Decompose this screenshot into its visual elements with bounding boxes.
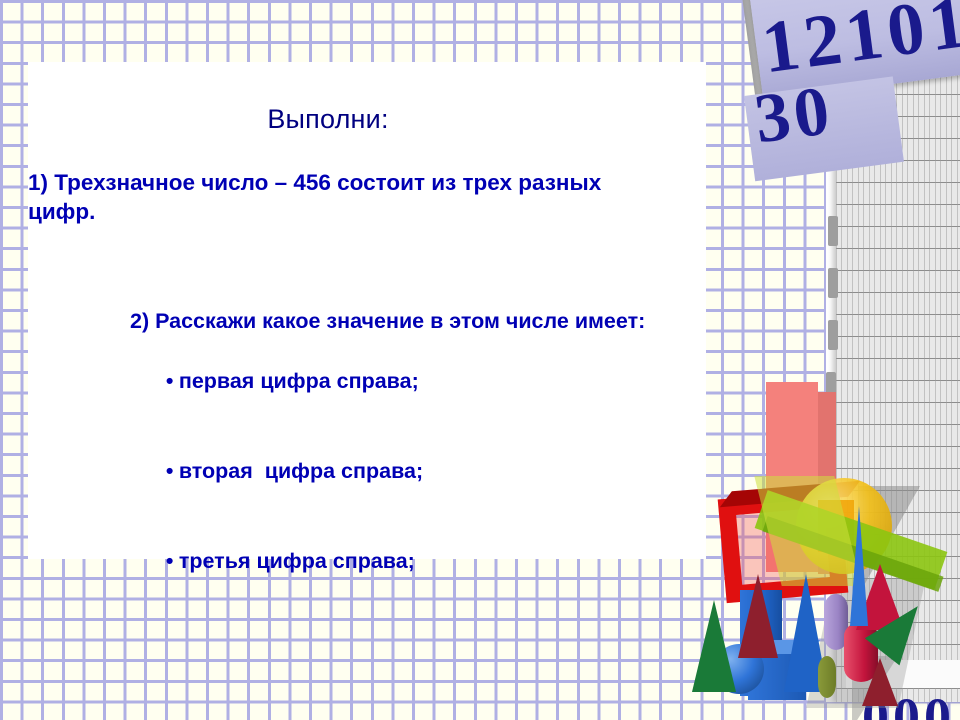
task-2-bullet-2-label: вторая цифра справа; — [179, 459, 423, 483]
task-2-lead: 2) Расскажи какое значение в этом числе … — [130, 306, 650, 336]
solid-cone-darkred — [738, 574, 778, 658]
solid-cylinder-olive — [818, 656, 836, 698]
task-item-1: 1) Трехзначное число – 456 состоит из тр… — [28, 168, 628, 226]
task-2-bullet-1: •первая цифра справа; — [130, 336, 650, 426]
solid-cone-green — [692, 600, 736, 692]
paper-notch — [828, 216, 838, 246]
bullet-icon: • — [166, 366, 179, 396]
paper-notch — [828, 268, 838, 298]
paper-notch — [828, 320, 838, 350]
task-2-bullet-1-label: первая цифра справа; — [179, 369, 419, 393]
task-2-bullet-3-label: третья цифра справа; — [179, 549, 415, 573]
task-item-2: 2) Расскажи какое значение в этом числе … — [130, 306, 650, 606]
geometric-solids-cluster — [700, 378, 960, 708]
task-2-bullet-2: •вторая цифра справа; — [130, 426, 650, 516]
bullet-icon: • — [166, 456, 179, 486]
solid-spike-blue — [850, 506, 868, 626]
ruler-digits-top: 1210101 — [757, 0, 960, 91]
bullet-icon: • — [166, 546, 179, 576]
slide-canvas: 1210101 30 000 — [0, 0, 960, 720]
page-title: Выполни: — [28, 104, 628, 135]
solid-pyramid-darkred — [862, 658, 898, 706]
task-2-bullet-3: •третья цифра справа; — [130, 516, 650, 606]
